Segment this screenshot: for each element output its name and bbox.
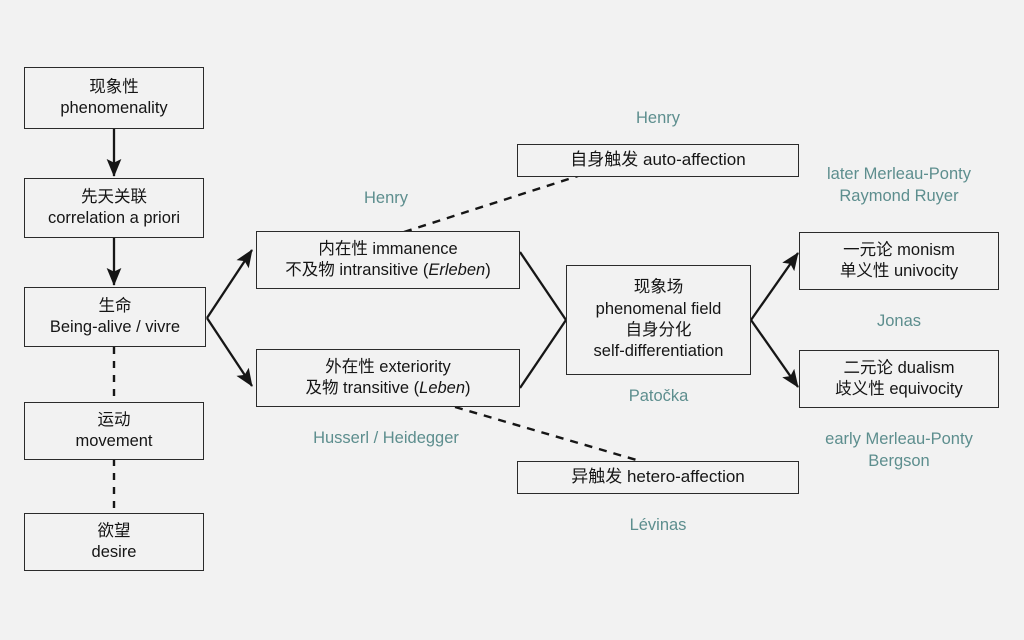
annotation-henry-mid-label: Henry: [296, 188, 476, 210]
node-being-alive-en: Being-alive / vivre: [50, 317, 180, 338]
node-field-en2: self-differentiation: [594, 341, 724, 362]
node-immanence-line2: 不及物 intransitive (Erleben): [285, 260, 490, 281]
annotation-levinas: Lévinas: [566, 515, 750, 537]
annotation-henry-mid: Henry: [296, 188, 476, 210]
node-monism-line2: 单义性 univocity: [840, 261, 958, 282]
node-field-cn1: 现象场: [634, 277, 684, 298]
diagram-canvas: 现象性 phenomenality 先天关联 correlation a pri…: [0, 0, 1024, 640]
annotation-levinas-label: Lévinas: [566, 515, 750, 537]
edge-immanence-to-field: [520, 252, 566, 320]
node-monism[interactable]: 一元论 monism 单义性 univocity: [799, 232, 999, 290]
node-immanence-term: Erleben: [428, 261, 485, 279]
node-auto-affection[interactable]: 自身触发 auto-affection: [517, 144, 799, 177]
annotation-early-merleau-ponty-label: early Merleau-Ponty: [799, 429, 999, 451]
node-being-alive-cn: 生命: [99, 296, 132, 317]
node-hetero-affection-text: 异触发 hetero-affection: [571, 466, 745, 488]
annotation-husserl-heidegger-label: Husserl / Heidegger: [296, 428, 476, 450]
node-exteriority-line2-suffix: ): [465, 379, 471, 397]
node-exteriority-line2-prefix: 及物 transitive (: [305, 379, 419, 397]
annotation-later-merleau-ponty-label: later Merleau-Ponty: [799, 164, 999, 186]
annotation-later-merleau-ponty: later Merleau-Ponty Raymond Ruyer: [799, 164, 999, 208]
annotation-husserl-heidegger: Husserl / Heidegger: [296, 428, 476, 450]
node-desire[interactable]: 欲望 desire: [24, 513, 204, 571]
node-phenomenality-en: phenomenality: [60, 98, 167, 119]
edge-exteriority-to-hetero-affection-dashed: [455, 407, 640, 461]
edge-exteriority-to-field: [520, 320, 566, 388]
annotation-jonas: Jonas: [799, 311, 999, 333]
edge-being-alive-to-exteriority: [207, 318, 252, 386]
annotation-early-merleau-ponty: early Merleau-Ponty Bergson: [799, 429, 999, 473]
node-auto-affection-text: 自身触发 auto-affection: [570, 149, 745, 171]
node-exteriority-line2: 及物 transitive (Leben): [305, 378, 470, 399]
annotation-henry-top: Henry: [566, 108, 750, 130]
edge-field-to-monism: [751, 253, 798, 320]
node-movement-en: movement: [75, 431, 152, 452]
node-exteriority[interactable]: 外在性 exteriority 及物 transitive (Leben): [256, 349, 520, 407]
node-correlation-cn: 先天关联: [81, 187, 147, 208]
node-phenomenality[interactable]: 现象性 phenomenality: [24, 67, 204, 129]
edge-field-to-dualism: [751, 320, 798, 387]
node-field-en1: phenomenal field: [596, 299, 722, 320]
node-desire-en: desire: [92, 542, 137, 563]
node-phenomenal-field[interactable]: 现象场 phenomenal field 自身分化 self-different…: [566, 265, 751, 375]
node-correlation-en: correlation a priori: [48, 208, 180, 229]
node-immanence-line2-prefix: 不及物 intransitive (: [285, 261, 428, 279]
annotation-henry-top-label: Henry: [566, 108, 750, 130]
node-immanence-line1: 内在性 immanence: [318, 239, 457, 260]
node-dualism-line2: 歧义性 equivocity: [835, 379, 962, 400]
annotation-patocka-label: Patočka: [566, 386, 751, 408]
node-monism-line1: 一元论 monism: [843, 240, 955, 261]
node-immanence[interactable]: 内在性 immanence 不及物 intransitive (Erleben): [256, 231, 520, 289]
edge-being-alive-to-immanence: [207, 250, 252, 318]
node-hetero-affection[interactable]: 异触发 hetero-affection: [517, 461, 799, 494]
node-movement[interactable]: 运动 movement: [24, 402, 204, 460]
node-dualism-line1: 二元论 dualism: [844, 358, 955, 379]
node-exteriority-line1: 外在性 exteriority: [325, 357, 451, 378]
node-field-cn2: 自身分化: [626, 320, 692, 341]
annotation-raymond-ruyer-label: Raymond Ruyer: [799, 186, 999, 208]
annotation-patocka: Patočka: [566, 386, 751, 408]
node-being-alive[interactable]: 生命 Being-alive / vivre: [24, 287, 206, 347]
node-movement-cn: 运动: [98, 410, 131, 431]
annotation-bergson-label: Bergson: [799, 451, 999, 473]
node-correlation-a-priori[interactable]: 先天关联 correlation a priori: [24, 178, 204, 238]
annotation-jonas-label: Jonas: [799, 311, 999, 333]
node-desire-cn: 欲望: [98, 521, 131, 542]
node-dualism[interactable]: 二元论 dualism 歧义性 equivocity: [799, 350, 999, 408]
node-phenomenality-cn: 现象性: [89, 77, 139, 98]
node-immanence-line2-suffix: ): [485, 261, 491, 279]
node-exteriority-term: Leben: [419, 379, 465, 397]
